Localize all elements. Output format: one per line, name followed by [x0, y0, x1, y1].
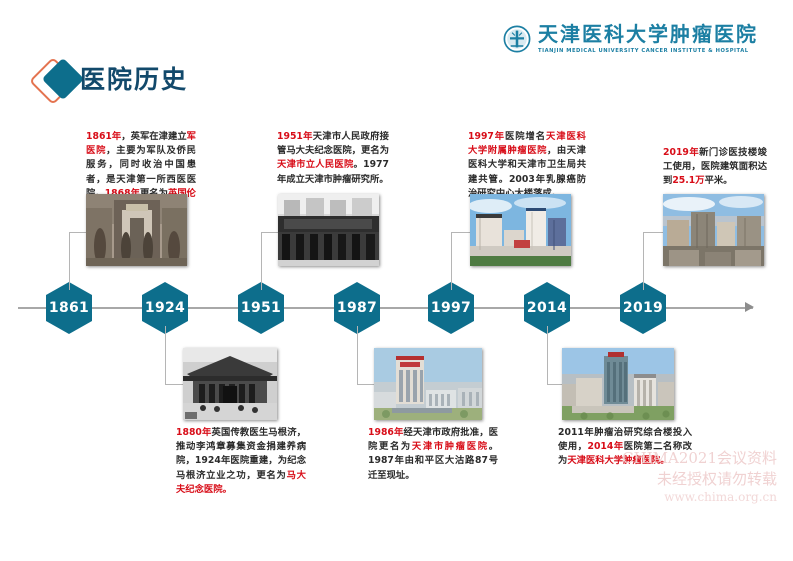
connector-1924-vertical	[165, 326, 167, 384]
photo-british-military-hospital	[86, 194, 187, 266]
hospital-logo: 天津医科大学肿瘤医院 TIANJIN MEDICAL UNIVERSITY CA…	[503, 16, 758, 62]
page-title: 医院历史	[80, 60, 188, 96]
slide-header: 医院历史	[0, 54, 793, 114]
watermark-line-3: www.chima.org.cn	[622, 489, 777, 505]
text-segment-0: 1997年	[468, 131, 505, 142]
hospital-name-en: TIANJIN MEDICAL UNIVERSITY CANCER INSTIT…	[538, 48, 758, 54]
timeline-node-label: 1861	[49, 300, 89, 316]
text-segment-1: 2014年	[587, 441, 623, 452]
photo-new-outpatient-building-image	[663, 194, 764, 266]
photo-new-outpatient-building	[663, 194, 764, 266]
timeline-node-label: 2019	[623, 300, 663, 316]
entry-text-1924: 1880年英国传教医生马根济，推动李鸿章募集资金捐建养病院，1924年医院重建，…	[176, 426, 306, 497]
text-segment-0: 1951年	[277, 131, 313, 142]
photo-comprehensive-research-building-image	[562, 348, 674, 420]
timeline-node-label: 1987	[337, 300, 377, 316]
photo-municipal-peoples-hospital	[278, 194, 379, 266]
connector-1987-vertical	[357, 326, 359, 384]
hospital-name-cn: 天津医科大学肿瘤医院	[538, 24, 758, 45]
text-segment-3: 平米。	[705, 175, 733, 186]
hospital-seal-icon	[503, 25, 531, 53]
photo-tianjin-cancer-hospital-building	[374, 348, 482, 420]
watermark-line-2: 未经授权请勿转载	[622, 469, 777, 489]
entry-text-1951: 1951年天津市人民政府接管马大夫纪念医院，更名为天津市立人民医院。1977年成…	[277, 130, 389, 187]
text-segment-3: 天津医科大学肿瘤医院。	[567, 455, 669, 466]
entry-text-2019: 2019年新门诊医技楼竣工使用，医院建筑面积达到25.1万平米。	[663, 146, 767, 189]
photo-municipal-peoples-hospital-image	[278, 194, 379, 266]
text-segment-2: 25.1万	[672, 175, 704, 186]
connector-1997-vertical	[451, 232, 453, 290]
timeline-node-label: 2014	[527, 300, 567, 316]
text-segment-2: 天津市立人民医院	[277, 159, 354, 170]
text-segment-0: 2019年	[663, 147, 699, 158]
connector-2019-vertical	[643, 232, 645, 290]
text-segment-0: 1861年	[86, 131, 121, 142]
photo-comprehensive-research-building	[562, 348, 674, 420]
entry-text-1997: 1997年医院增名天津医科大学附属肿瘤医院，由天津医科大学和天津市卫生局共建共管…	[468, 130, 586, 201]
arrow-right-icon	[745, 302, 754, 312]
connector-2019-horizontal	[643, 232, 665, 234]
text-segment-0: 1986年	[368, 427, 404, 438]
entry-text-1987: 1986年经天津市政府批准，医院更名为天津市肿瘤医院。1987年由和平区大沽路8…	[368, 426, 498, 483]
text-segment-2: 天津市肿瘤医院	[412, 441, 489, 452]
slide-root: 医院历史 天津医科大学肿瘤医院 TIANJIN MEDICAL UNIVERSI…	[0, 0, 793, 561]
photo-ma-genji-memorial-hospital-image	[183, 348, 277, 420]
text-segment-1: ，英军在津建立	[121, 131, 186, 142]
connector-2014-vertical	[547, 326, 549, 384]
timeline-node-label: 1951	[241, 300, 281, 316]
connector-1951-vertical	[261, 232, 263, 290]
photo-british-military-hospital-image	[86, 194, 187, 266]
timeline-node-label: 1924	[145, 300, 185, 316]
timeline-node-label: 1997	[431, 300, 471, 316]
photo-affiliated-cancer-hospital-image	[470, 194, 571, 266]
entry-text-2014: 2011年肿瘤治研究综合楼投入使用，2014年医院第二名称改为天津医科大学肿瘤医…	[558, 426, 692, 469]
photo-ma-genji-memorial-hospital	[183, 348, 277, 420]
connector-1861-vertical	[69, 232, 71, 290]
hospital-logo-text: 天津医科大学肿瘤医院 TIANJIN MEDICAL UNIVERSITY CA…	[538, 24, 758, 54]
photo-tianjin-cancer-hospital-building-image	[374, 348, 482, 420]
text-segment-1: 医院增名	[505, 131, 546, 142]
text-segment-0: 1880年	[176, 427, 212, 438]
photo-affiliated-cancer-hospital	[470, 194, 571, 266]
